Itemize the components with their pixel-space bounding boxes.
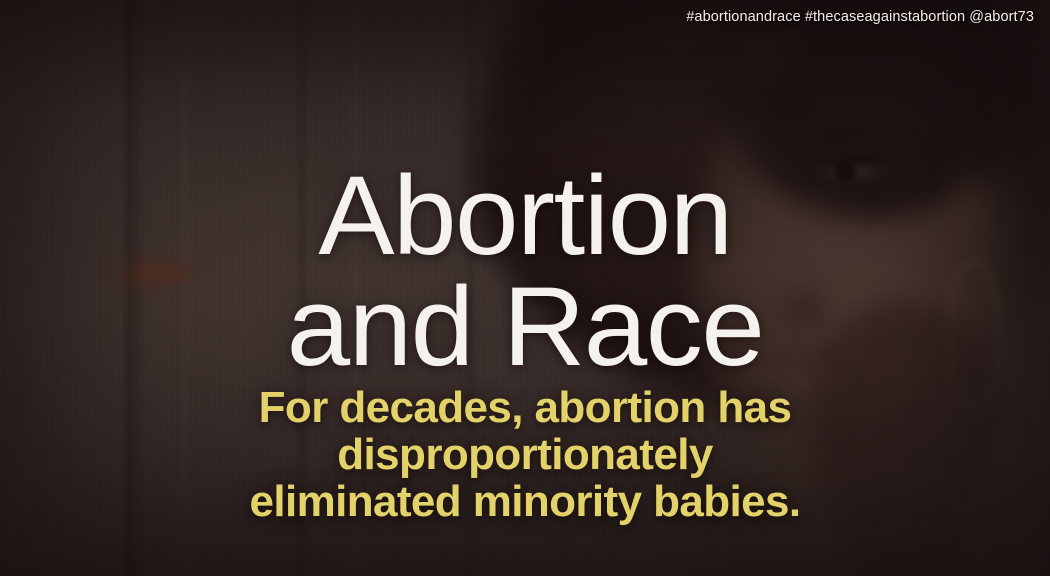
page-title-line-1: Abortion: [0, 161, 1050, 272]
page-title-line-2: and Race: [0, 272, 1050, 383]
hashtag-credit-line: #abortionandrace #thecaseagainstabortion…: [686, 9, 1034, 25]
page-subtitle-line-1: For decades, abortion has: [0, 385, 1050, 432]
page-subtitle-line-2: disproportionately: [0, 432, 1050, 479]
page-subtitle-line-3: eliminated minority babies.: [0, 479, 1050, 526]
page-subtitle: For decades, abortion has disproportiona…: [0, 385, 1050, 526]
slide-canvas: #abortionandrace #thecaseagainstabortion…: [0, 0, 1050, 576]
page-title: Abortion and Race: [0, 161, 1050, 383]
